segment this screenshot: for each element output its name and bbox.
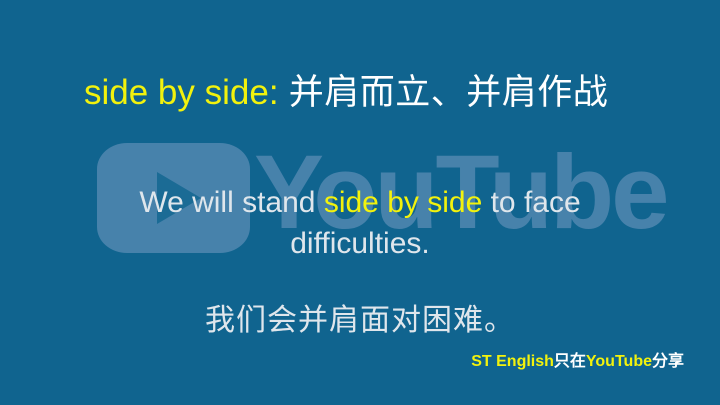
channel-suffix-text: 分享 (652, 353, 684, 370)
example-text-before: We will stand (139, 186, 324, 219)
title-english-phrase: side by side: (84, 73, 279, 112)
example-sentence-line-1: We will stand side by side to face (0, 182, 720, 223)
example-text-highlight: side by side (324, 186, 482, 219)
channel-platform: YouTube (586, 353, 652, 370)
example-chinese-translation: 我们会并肩面对困难。 (0, 300, 720, 341)
example-text-after: to face (482, 186, 580, 219)
channel-watermark: ST English只在YouTube分享 (471, 351, 684, 373)
channel-mid-text: 只在 (554, 353, 586, 370)
example-sentence: We will stand side by side to face diffi… (0, 182, 720, 264)
slide-canvas: YouTube side by side: 并肩而立、并肩作战 We will … (0, 0, 720, 405)
example-sentence-line-2: difficulties. (0, 223, 720, 264)
title-chinese-translation: 并肩而立、并肩作战 (279, 73, 609, 112)
slide-content: side by side: 并肩而立、并肩作战 We will stand si… (0, 0, 720, 405)
page-title: side by side: 并肩而立、并肩作战 (84, 70, 608, 116)
channel-name: ST English (471, 353, 554, 370)
